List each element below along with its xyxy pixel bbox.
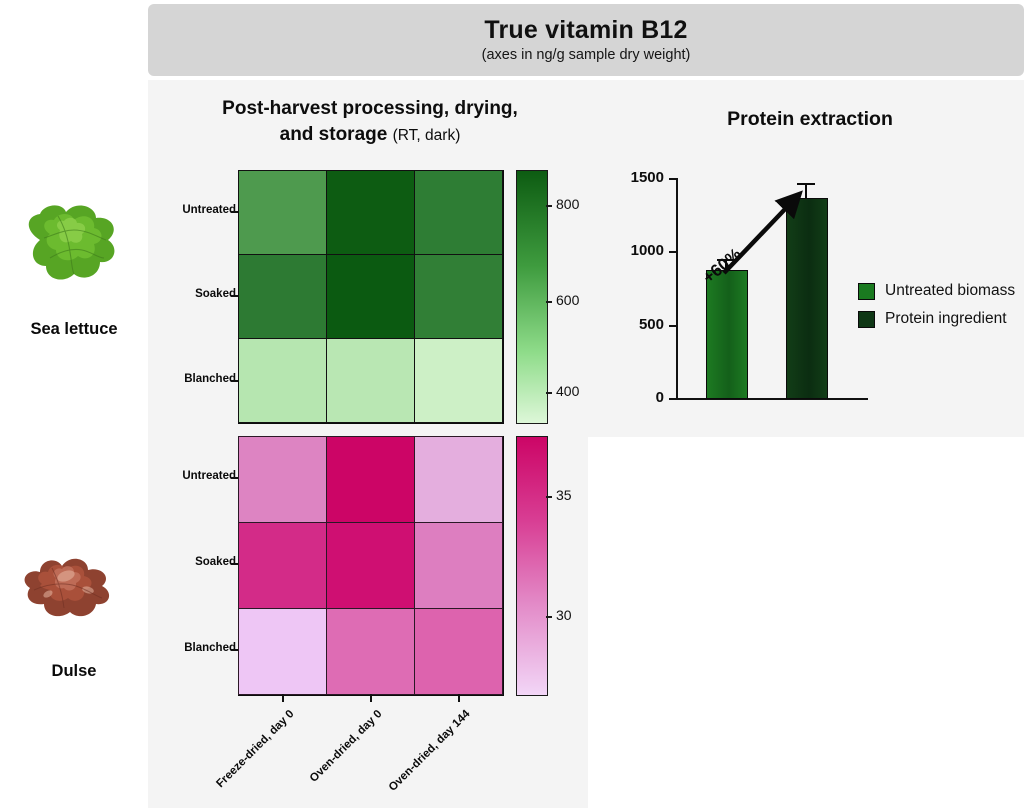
heatmap-row-tick: [231, 477, 238, 479]
bar-chart-legend: Untreated biomass Protein ingredient: [858, 282, 1015, 338]
colorbar-value-800: 800: [556, 196, 579, 212]
colorbar-dulse[interactable]: [516, 436, 548, 696]
figure-subtitle: (axes in ng/g sample dry weight): [482, 48, 691, 63]
green-seaweed-photo-icon: [4, 186, 144, 316]
heatmap-cell[interactable]: [326, 608, 415, 695]
white-area-background: [588, 437, 1024, 808]
figure-title-banner: True vitamin B12 (axes in ng/g sample dr…: [148, 4, 1024, 76]
heatmap-cell[interactable]: [326, 522, 415, 609]
legend-swatch-icon: [858, 283, 875, 300]
legend-label: Untreated biomass: [885, 282, 1015, 300]
legend-item-protein-ingredient[interactable]: Protein ingredient: [858, 310, 1015, 328]
species-label: Dulse: [0, 662, 148, 681]
colorbar-tick: [546, 496, 552, 498]
species-label: Sea lettuce: [0, 320, 148, 339]
heatmap-row-tick: [231, 295, 238, 297]
heatmap-row-label-untreated: Untreated: [160, 470, 236, 482]
heatmap-cell[interactable]: [238, 338, 327, 423]
legend-swatch-icon: [858, 311, 875, 328]
heatmap-cell[interactable]: [326, 170, 415, 255]
colorbar-tick: [546, 616, 552, 618]
heatmap-cell[interactable]: [238, 436, 327, 523]
heatmap-cell[interactable]: [414, 436, 503, 523]
heatmap-panel-heading: Post-harvest processing, drying, and sto…: [160, 96, 580, 147]
species-dulse: Dulse: [0, 528, 148, 681]
species-sea-lettuce: Sea lettuce: [0, 186, 148, 339]
colorbar-tick: [546, 392, 552, 394]
heatmap-cell[interactable]: [238, 170, 327, 255]
figure-title: True vitamin B12: [484, 17, 687, 43]
heatmap-row-label-soaked: Soaked: [160, 556, 236, 568]
heatmap-row-tick: [231, 649, 238, 651]
colorbar-sea-lettuce[interactable]: [516, 170, 548, 424]
heatmap-row-label-soaked: Soaked: [160, 288, 236, 300]
heatmap-heading-line1: Post-harvest processing, drying,: [222, 98, 518, 119]
colorbar-tick: [546, 205, 552, 207]
heatmap-cell[interactable]: [238, 254, 327, 339]
heatmap-row-label-blanched: Blanched: [160, 642, 236, 654]
heatmap-cell[interactable]: [414, 522, 503, 609]
heatmap-heading-suffix: (RT, dark): [393, 127, 461, 144]
heatmap-row-tick: [231, 211, 238, 213]
colorbar-value-600: 600: [556, 292, 579, 308]
heatmap-cell[interactable]: [238, 608, 327, 695]
barchart-panel-heading: Protein extraction: [620, 108, 1000, 131]
heatmap-cell[interactable]: [414, 170, 503, 255]
increase-arrow-icon: [620, 168, 880, 418]
heatmap-cell[interactable]: [238, 522, 327, 609]
heatmap-col-tick: [458, 694, 460, 702]
heatmap-cell[interactable]: [414, 338, 503, 423]
figure-canvas: True vitamin B12 (axes in ng/g sample dr…: [0, 0, 1024, 808]
heatmap-heading-line2: and storage: [280, 124, 388, 145]
heatmap-row-tick: [231, 563, 238, 565]
legend-label: Protein ingredient: [885, 310, 1007, 328]
heatmap-cell[interactable]: [326, 436, 415, 523]
bar-chart-protein-extraction[interactable]: 1500 1000 500 0 +60%: [620, 168, 880, 418]
colorbar-value-400: 400: [556, 383, 579, 399]
heatmap-dulse[interactable]: [238, 436, 504, 696]
colorbar-value-35: 35: [556, 487, 572, 503]
heatmap-cell[interactable]: [414, 608, 503, 695]
heatmap-row-label-blanched: Blanched: [160, 373, 236, 385]
red-seaweed-photo-icon: [4, 528, 144, 658]
heatmap-cell[interactable]: [414, 254, 503, 339]
heatmap-col-tick: [282, 694, 284, 702]
heatmap-row-label-untreated: Untreated: [160, 204, 236, 216]
colorbar-tick: [546, 301, 552, 303]
legend-item-untreated-biomass[interactable]: Untreated biomass: [858, 282, 1015, 300]
heatmap-row-tick: [231, 380, 238, 382]
heatmap-cell[interactable]: [326, 338, 415, 423]
colorbar-value-30: 30: [556, 607, 572, 623]
heatmap-sea-lettuce[interactable]: [238, 170, 504, 424]
heatmap-cell[interactable]: [326, 254, 415, 339]
heatmap-col-tick: [370, 694, 372, 702]
